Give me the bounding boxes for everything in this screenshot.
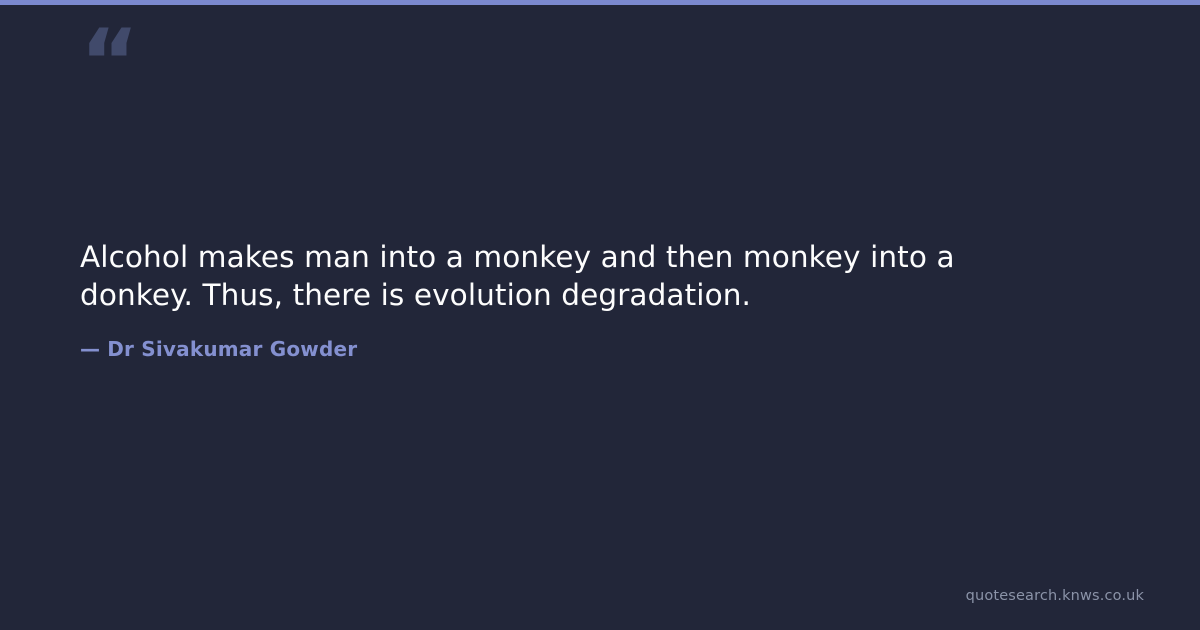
quote-attribution: —Dr Sivakumar Gowder [80,314,1080,362]
quote-text: Alcohol makes man into a monkey and then… [80,238,1040,314]
top-accent-bar [0,0,1200,5]
quote-card: “ Alcohol makes man into a monkey and th… [0,0,1200,630]
source-website-label: quotesearch.knws.co.uk [966,587,1144,605]
em-dash: — [80,336,107,362]
quote-content: Alcohol makes man into a monkey and then… [80,238,1080,362]
author-name: Dr Sivakumar Gowder [107,337,357,361]
opening-quote-icon: “ [80,18,137,108]
